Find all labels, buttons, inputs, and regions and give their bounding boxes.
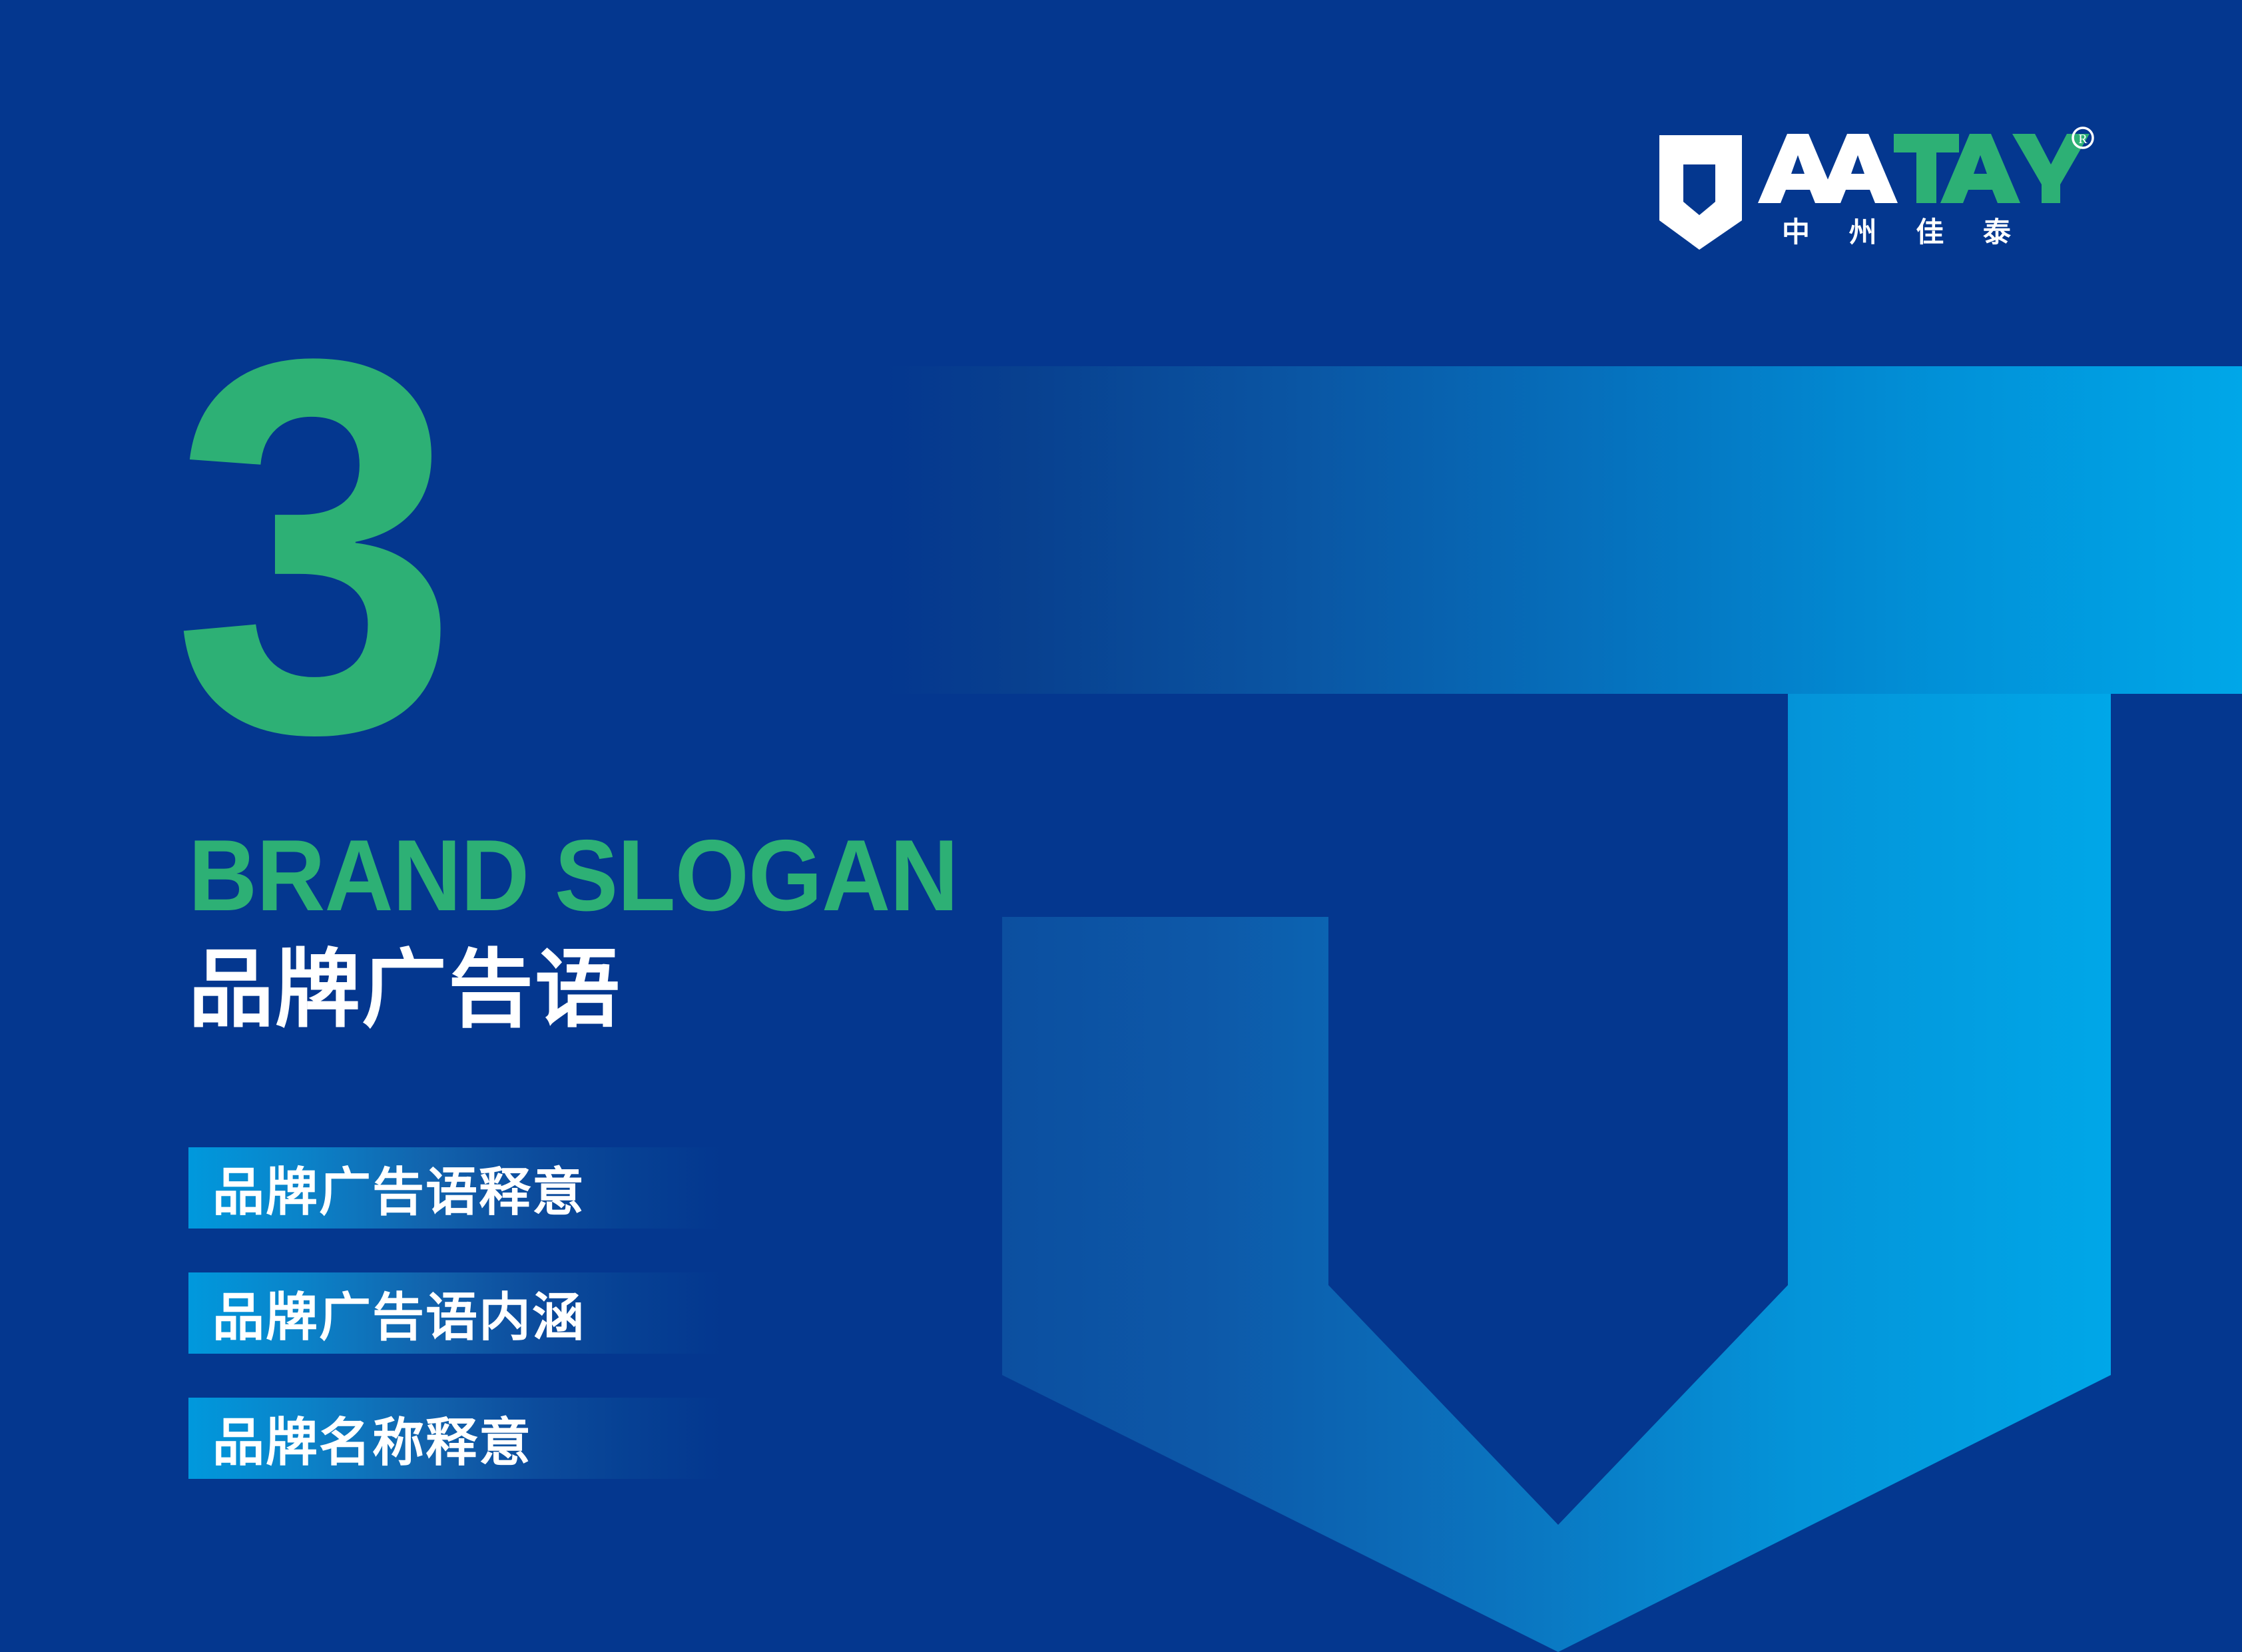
jaatay-shield-mark [1659, 135, 1742, 250]
slide-root: R 中 州 佳 泰 3 BRAND SLOGAN 品牌广告语 品牌广告语释意 品… [0, 0, 2242, 1652]
menu-item-label: 品牌广告语内涵 [212, 1276, 585, 1350]
section-menu-list: 品牌广告语释意 品牌广告语内涵 品牌名称释意 [188, 1147, 854, 1523]
logo-wordmark [1758, 134, 2090, 203]
menu-item-2[interactable]: 品牌名称释意 [188, 1398, 721, 1479]
menu-item-label: 品牌名称释意 [212, 1401, 532, 1476]
brand-logo: R 中 州 佳 泰 [1657, 123, 2109, 250]
logo-chinese-name: 中 州 佳 泰 [1782, 216, 2026, 248]
section-title-cn: 品牌广告语 [188, 920, 621, 1043]
section-number: 3 [172, 293, 443, 799]
section-title-en: BRAND SLOGAN [188, 818, 958, 934]
menu-item-1[interactable]: 品牌广告语内涵 [188, 1272, 721, 1354]
menu-item-label: 品牌广告语释意 [212, 1151, 585, 1225]
menu-item-0[interactable]: 品牌广告语释意 [188, 1147, 721, 1229]
svg-text:R: R [2078, 132, 2088, 146]
logo-svg: R 中 州 佳 泰 [1657, 123, 2109, 250]
